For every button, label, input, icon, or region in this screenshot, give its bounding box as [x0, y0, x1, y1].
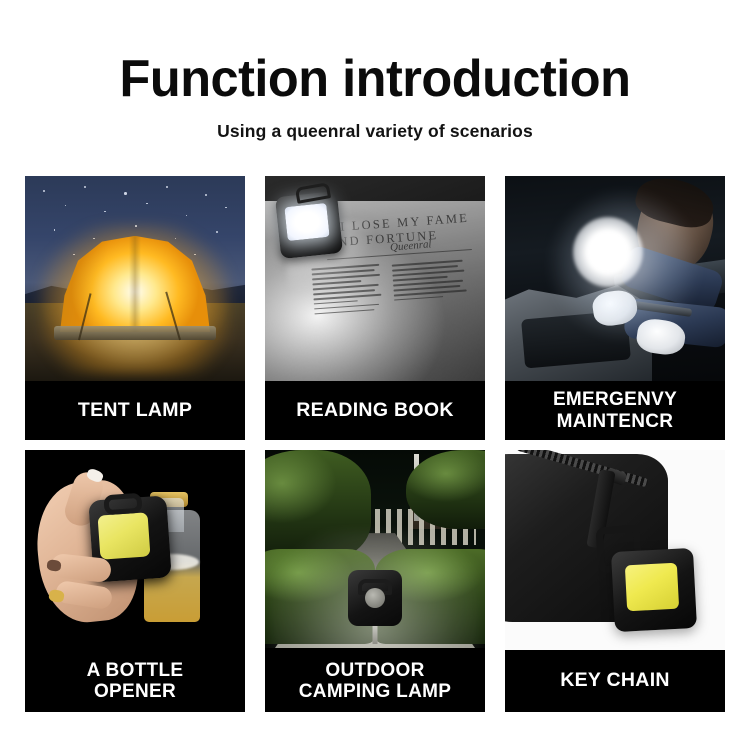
page-title: Function introduction: [11, 52, 739, 107]
flashlight-core: [573, 217, 643, 287]
scenario-card-outdoor-camping-lamp[interactable]: OUTDOOR CAMPING LAMP: [265, 450, 485, 712]
header: Function introduction Using a queenral v…: [0, 52, 750, 142]
card-caption: EMERGENVY MAINTENCR: [505, 381, 725, 440]
card-caption-line2: CAMPING LAMP: [299, 681, 451, 702]
camping-lamp-dial: [365, 588, 385, 608]
card-caption: READING BOOK: [265, 381, 485, 440]
card-caption-line2: OPENER: [94, 681, 176, 702]
card-caption: KEY CHAIN: [505, 650, 725, 712]
cob-led-panel: [97, 512, 150, 559]
card-caption: OUTDOOR CAMPING LAMP: [265, 650, 485, 712]
carabiner-hook: [104, 493, 143, 516]
scenario-card-key-chain[interactable]: KEY CHAIN: [505, 450, 725, 712]
card-caption-line1: EMERGENVY: [553, 389, 677, 410]
cob-light-panel: [284, 203, 329, 241]
scenario-grid: TENT LAMP I LOSE MY FAME AND FORTUNE Que…: [25, 176, 725, 712]
cob-led-panel: [625, 563, 679, 612]
tent-lamp-photo: [25, 176, 245, 381]
infographic-page: Function introduction Using a queenral v…: [0, 0, 750, 750]
card-caption: TENT LAMP: [25, 381, 245, 440]
scenario-card-bottle-opener[interactable]: A BOTTLE OPENER: [25, 450, 245, 712]
fingernail: [46, 559, 61, 572]
outdoor-camping-lamp-photo: [265, 450, 485, 648]
scenario-card-emergency-maintenance[interactable]: EMERGENVY MAINTENCR: [505, 176, 725, 440]
reading-book-photo: I LOSE MY FAME AND FORTUNE Queenral: [265, 176, 485, 381]
card-caption-line1: OUTDOOR: [325, 660, 424, 681]
card-caption: A BOTTLE OPENER: [25, 650, 245, 712]
scenario-card-reading-book[interactable]: I LOSE MY FAME AND FORTUNE Queenral: [265, 176, 485, 440]
page-subtitle: Using a queenral variety of scenarios: [0, 121, 750, 142]
card-caption-line1: A BOTTLE: [87, 660, 184, 681]
emergency-maintenance-photo: [505, 176, 725, 381]
key-chain-photo: [505, 450, 725, 650]
scenario-card-tent-lamp[interactable]: TENT LAMP: [25, 176, 245, 440]
card-caption-line2: MAINTENCR: [557, 411, 674, 432]
bottle-opener-photo: [25, 450, 245, 650]
